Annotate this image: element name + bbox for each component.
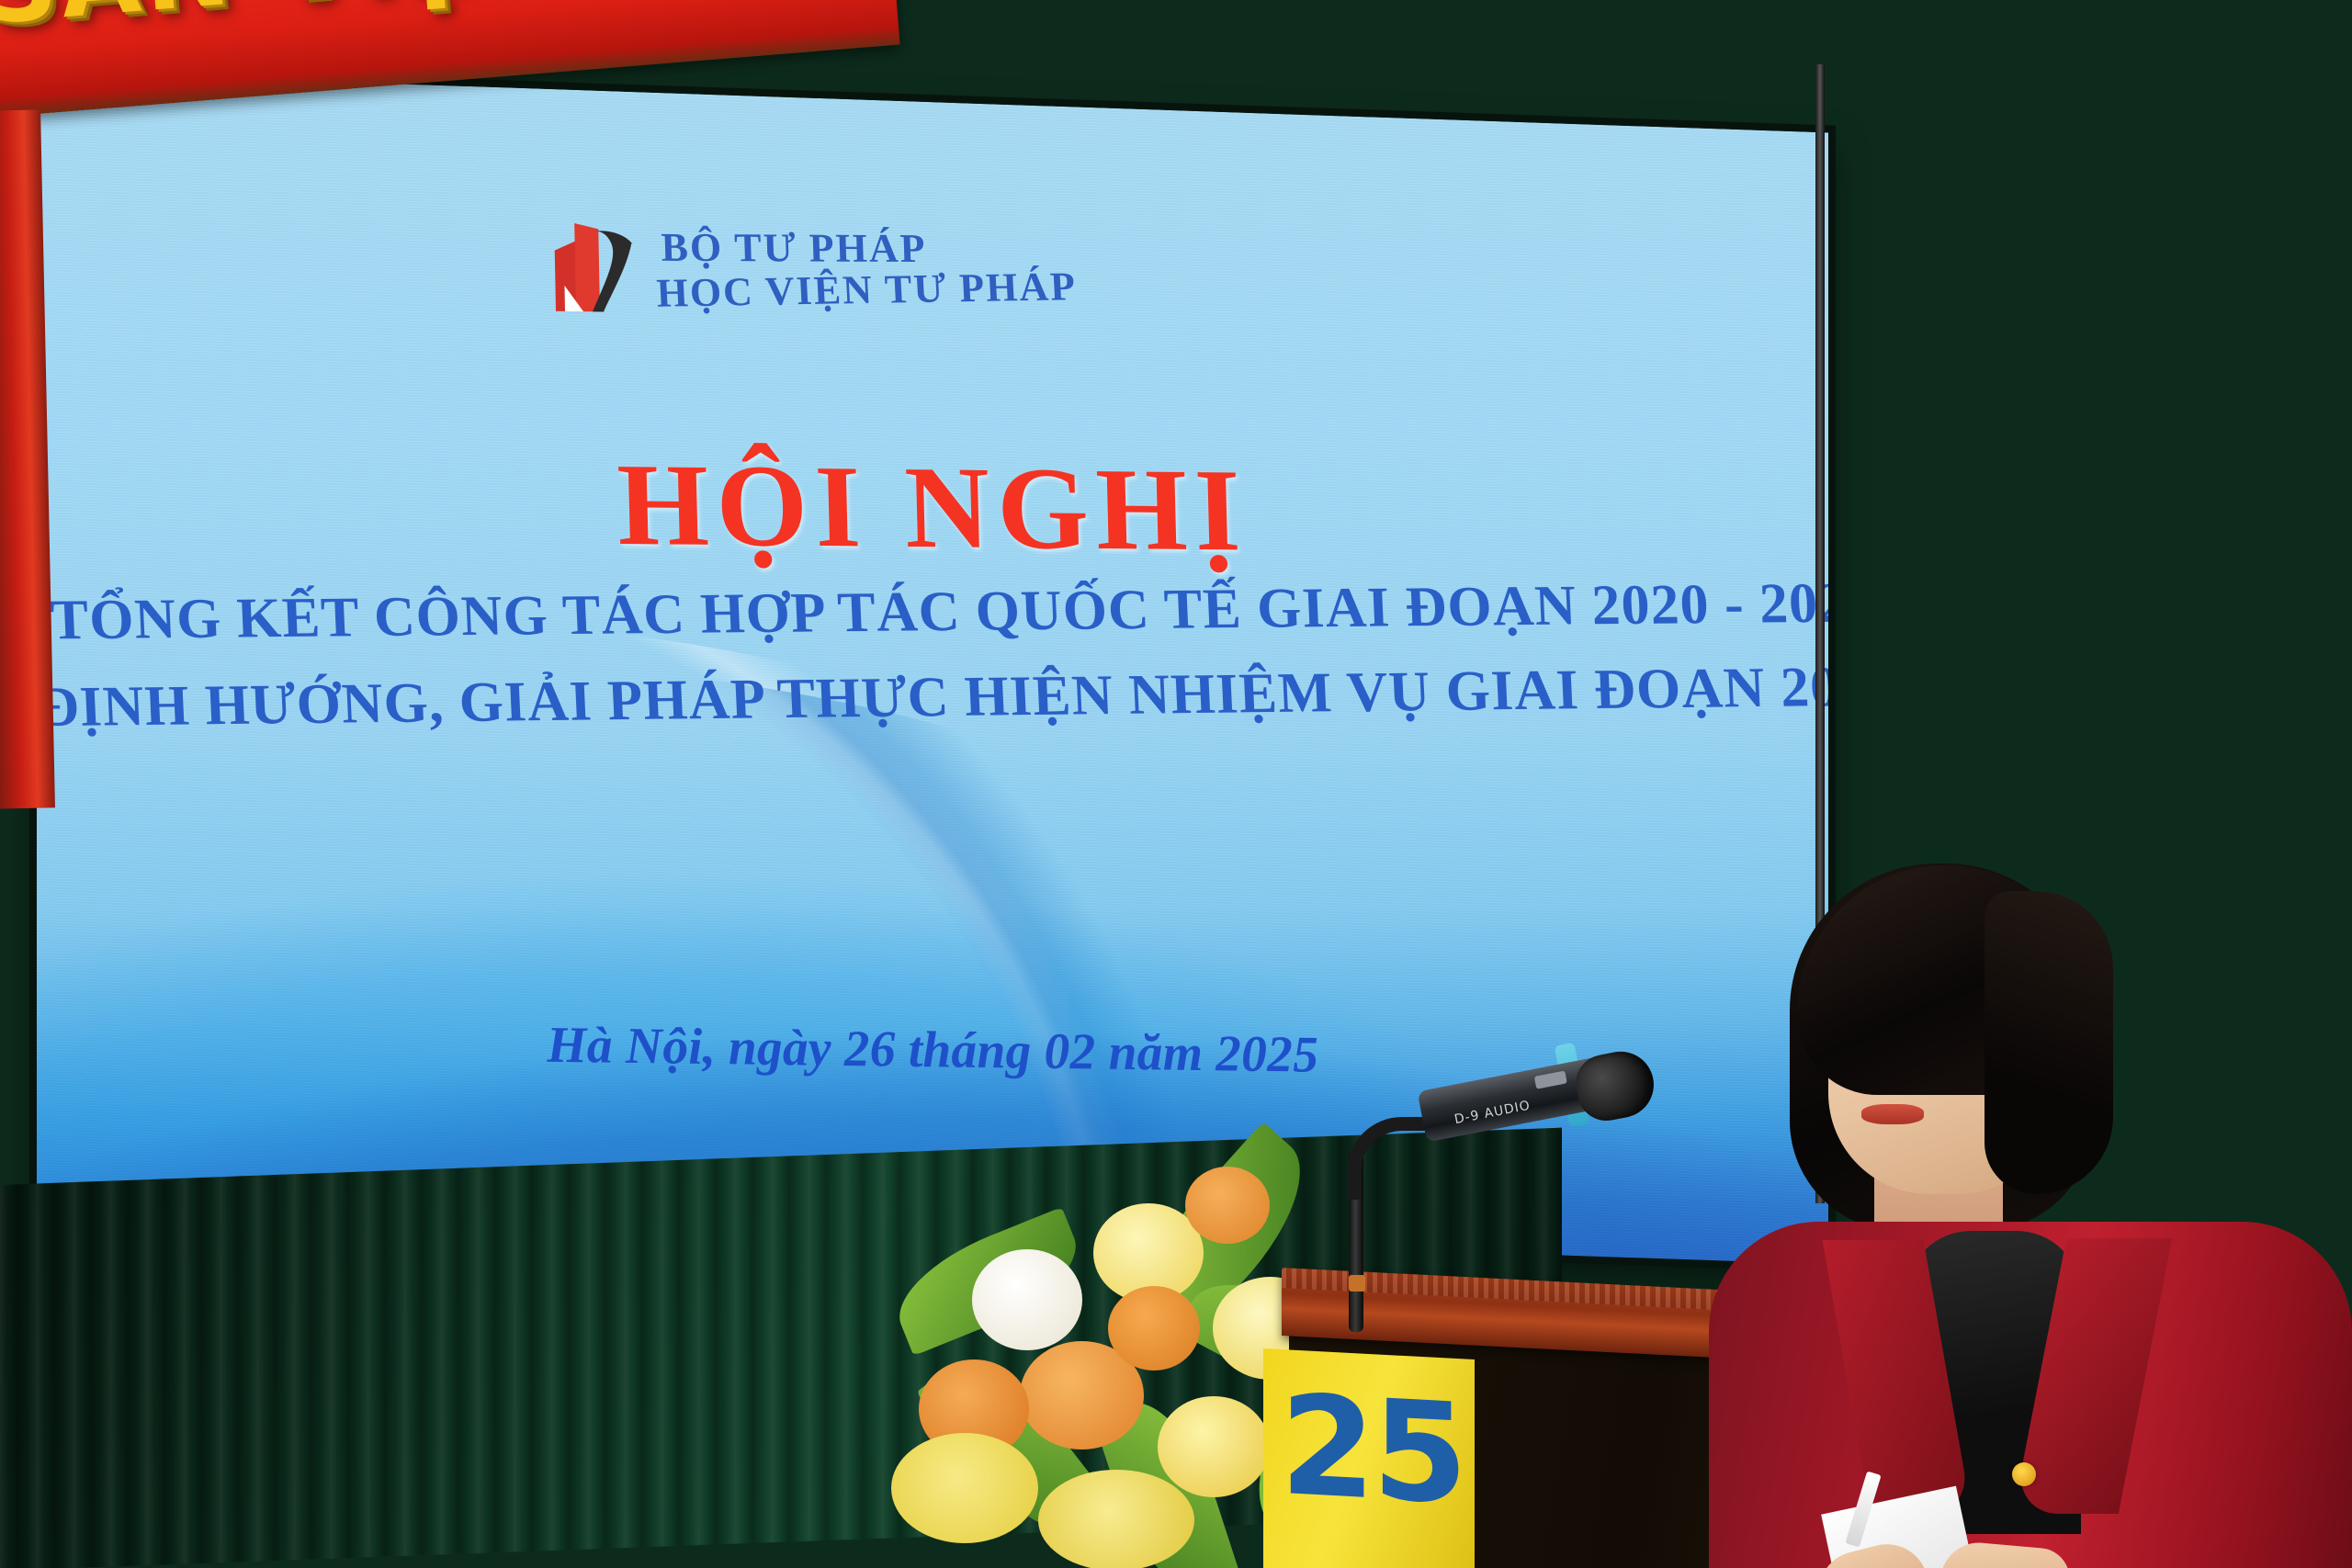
handheld-microphone-icon: D-9 AUDIO [1330,1038,1661,1314]
mic-stand-collar [1349,1275,1365,1292]
podium-number-sign: 25 [1263,1348,1475,1568]
slide-subtitle-line2: ĐỊNH HƯỚNG, GIẢI PHÁP THỰC HIỆN NHIỆM VỤ… [37,655,1828,740]
slide-subtitle-line1: TỔNG KẾT CÔNG TÁC HỢP TÁC QUỐC TẾ GIAI Đ… [49,571,1828,654]
podium-number: 25 [1280,1377,1464,1525]
organisation-logo-row: BỘ TƯ PHÁP HỌC VIỆN TƯ PHÁP [550,216,1083,323]
speaker-body [1709,1222,2352,1568]
judicial-academy-logo-icon [550,216,640,316]
slide-date-text: Hà Nội, ngày 26 tháng 02 năm 2025 [546,1016,1318,1085]
organisation-name: BỘ TƯ PHÁP HỌC VIỆN TƯ PHÁP [661,225,1082,314]
banner-text: SẢN VIỆ [0,0,476,48]
speaker-lips [1861,1104,1924,1124]
academy-name: HỌC VIỆN TƯ PHÁP [656,266,1078,314]
slide-subtitle: TỔNG KẾT CÔNG TÁC HỢP TÁC QUỐC TẾ GIAI Đ… [37,549,1828,761]
speaker-hair-side [1984,891,2113,1194]
speaker-person [1681,854,2352,1568]
mic-brand-label: D-9 AUDIO [1453,1098,1532,1127]
mic-switch [1534,1070,1567,1089]
conference-stage-scene: BỘ TƯ PHÁP HỌC VIỆN TƯ PHÁP HỘI NGHỊ TỔN… [0,0,2352,1568]
speaker-lapel-pin-icon [2012,1462,2036,1486]
